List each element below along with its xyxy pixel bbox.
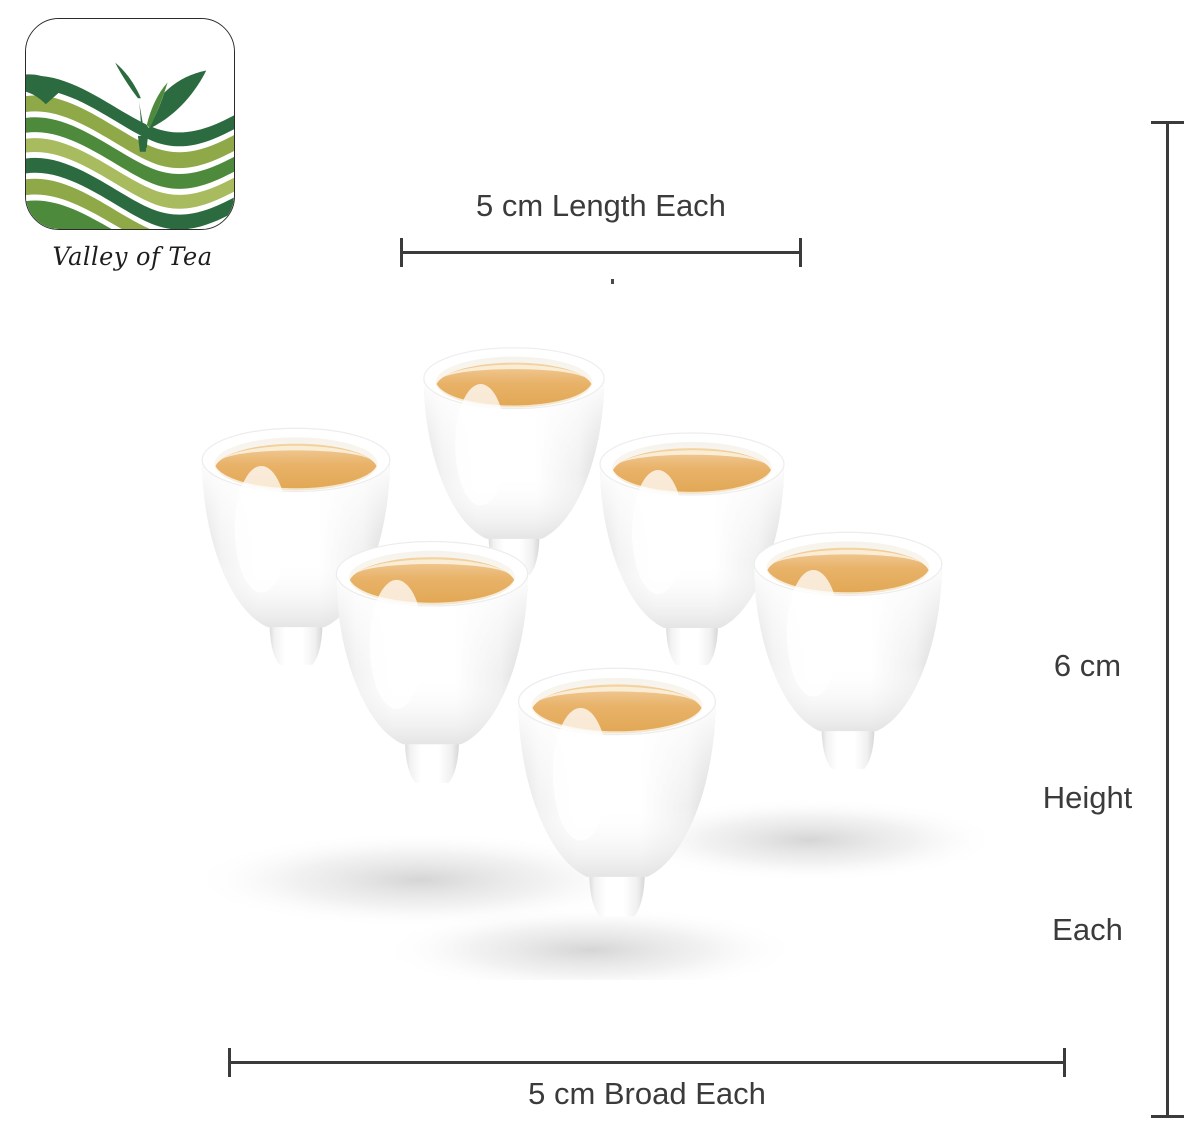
stray-dot-artifact	[611, 279, 614, 284]
broad-dimension-label: 5 cm Broad Each	[228, 1076, 1066, 1112]
dimension-end-cap-top	[1151, 121, 1184, 124]
dimension-end-cap-left	[400, 238, 403, 267]
teacup-middle-left	[336, 541, 527, 782]
teacup-back-right	[600, 433, 784, 665]
brand-wordmark: Valley of Tea	[29, 242, 235, 271]
height-dimension-label: 6 cm Height Each	[1010, 556, 1165, 996]
height-label-line-3: Each	[1010, 908, 1165, 952]
dimension-end-cap-bottom	[1151, 1115, 1184, 1118]
dimension-end-cap-left	[228, 1048, 231, 1077]
valley-of-tea-logo-icon	[25, 18, 235, 230]
dimension-end-cap-right	[799, 238, 802, 267]
teacup-back-center	[424, 348, 604, 575]
height-label-line-1: 6 cm	[1010, 644, 1165, 688]
height-dimension-line	[1166, 121, 1169, 1118]
broad-dimension-line	[228, 1061, 1066, 1064]
teacup-middle-right	[754, 532, 942, 769]
height-label-line-2: Height	[1010, 776, 1165, 820]
length-dimension-label: 5 cm Length Each	[400, 188, 802, 224]
teacup-set-image	[120, 320, 1050, 980]
length-dimension-line	[400, 251, 802, 254]
brand-logo-block: Valley of Tea	[25, 18, 240, 271]
dimension-end-cap-right	[1063, 1048, 1066, 1077]
